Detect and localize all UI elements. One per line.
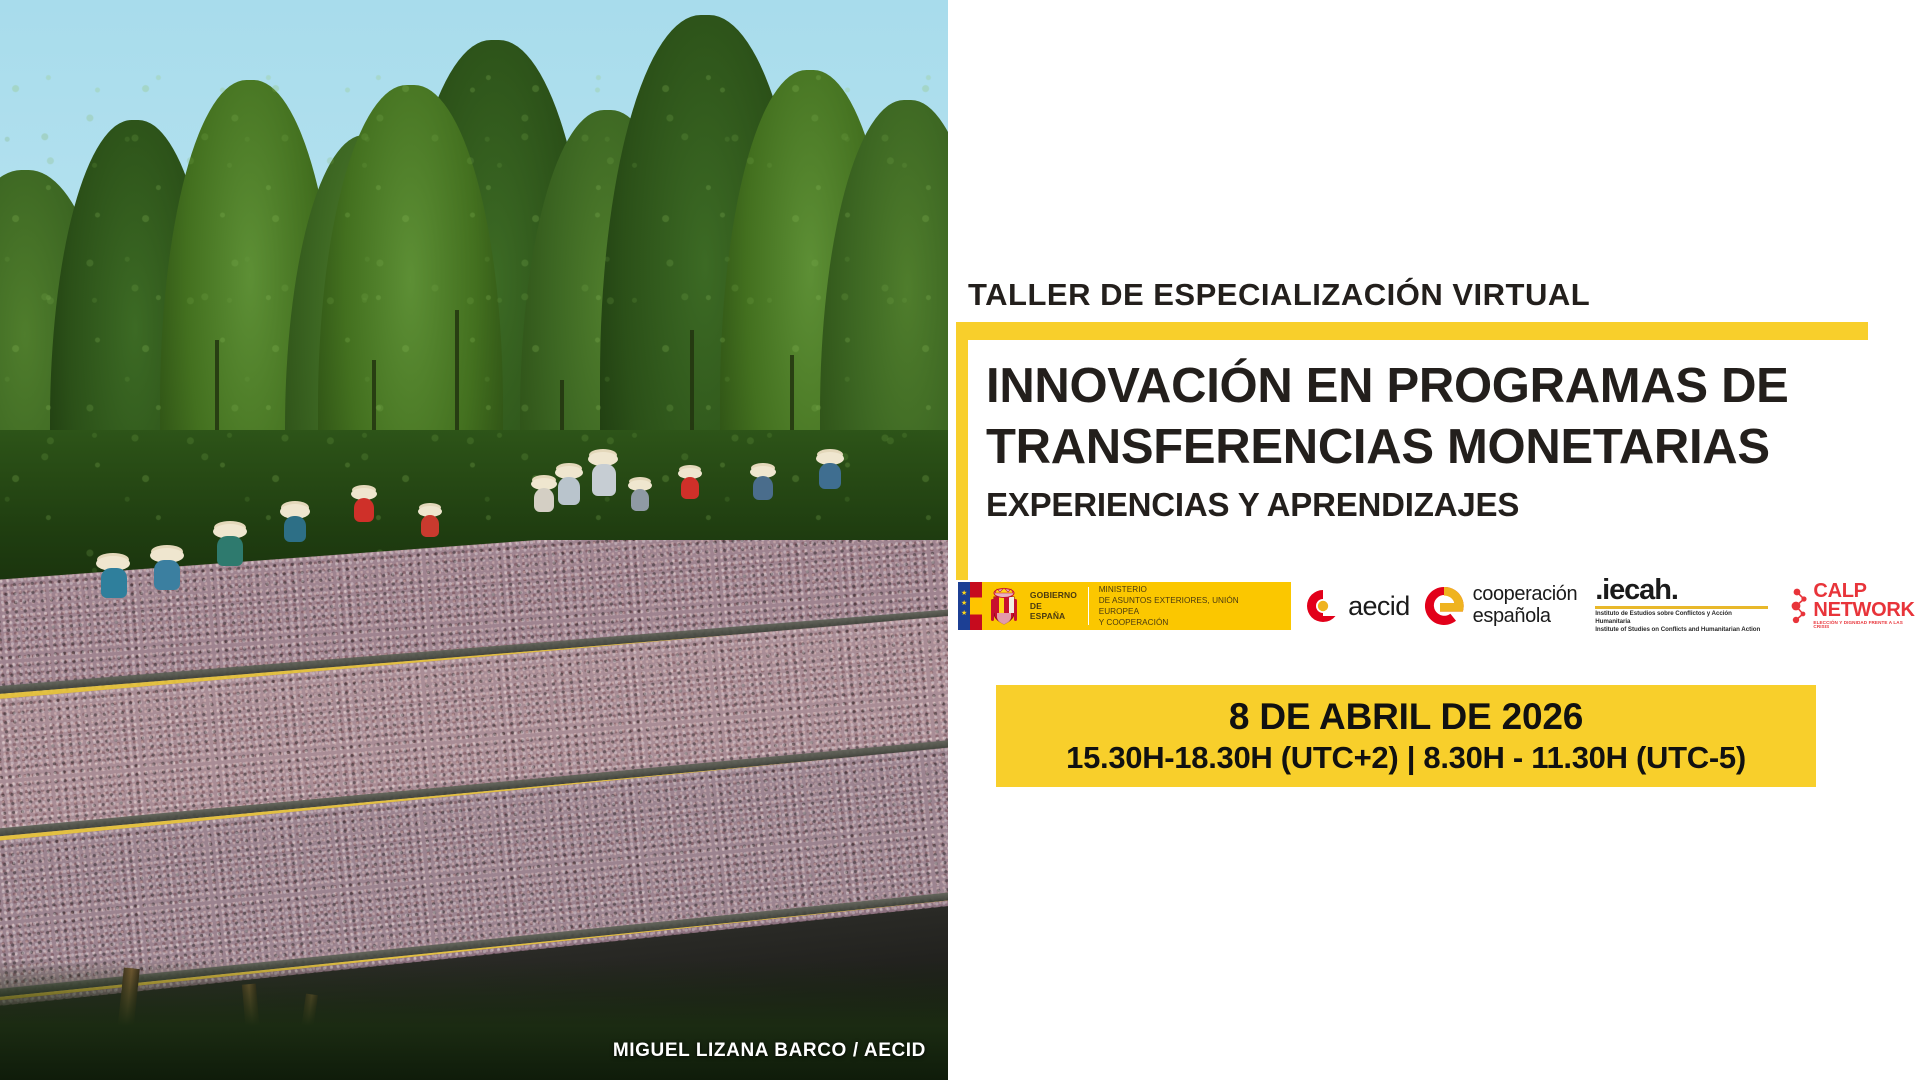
hero-photograph: MIGUEL LIZANA BARCO / AECID: [0, 0, 948, 1080]
iecah-subtitle-es: Instituto de Estudios sobre Conflictos y…: [1595, 610, 1768, 627]
ministerio-wordmark: MINISTERIO DE ASUNTOS EXTERIORES, UNIÓN …: [1089, 582, 1291, 630]
title-line-1: INNOVACIÓN EN PROGRAMAS DE: [986, 356, 1886, 417]
photo-credit: MIGUEL LIZANA BARCO / AECID: [613, 1040, 926, 1062]
event-poster: MIGUEL LIZANA BARCO / AECID TALLER DE ES…: [0, 0, 1920, 1080]
eu-spain-flag-icon: ★★★: [958, 582, 982, 630]
ministerio-line-1: MINISTERIO: [1099, 584, 1281, 595]
iecah-wordmark: .iecah.: [1595, 577, 1768, 605]
event-subtitle: EXPERIENCIAS Y APRENDIZAJES: [986, 486, 1886, 524]
aecid-logo: aecid: [1305, 588, 1410, 624]
content-panel: TALLER DE ESPECIALIZACIÓN VIRTUAL INNOVA…: [948, 0, 1920, 1080]
calp-tagline: ELECCIÓN Y DIGNIDAD FRENTE A LAS CRISIS: [1813, 621, 1920, 629]
spanish-coat-of-arms-icon: [982, 582, 1026, 630]
event-time: 15.30H-18.30H (UTC+2) | 8.30H - 11.30H (…: [1066, 740, 1746, 776]
drying-beds: [0, 540, 948, 1080]
cooperacion-line-1: cooperación: [1473, 583, 1578, 605]
cooperacion-line-2: española: [1473, 605, 1551, 627]
calp-wordmark: CALP NETWORK ELECCIÓN Y DIGNIDAD FRENTE …: [1813, 582, 1920, 629]
ministerio-line-3: Y COOPERACIÓN: [1099, 617, 1281, 628]
accent-stripe: [956, 340, 968, 580]
aecid-mark-icon: [1305, 588, 1341, 624]
gobierno-de-espana-logo: ★★★: [958, 582, 1291, 630]
cooperacion-e-mark-icon: [1422, 584, 1466, 628]
iecah-subtitle-en: Institute of Studies on Conflicts and Hu…: [1595, 626, 1768, 634]
gobierno-line-1: GOBIERNO: [1030, 590, 1080, 601]
calp-line-2: NETWORK: [1813, 601, 1920, 619]
ministerio-line-2: DE ASUNTOS EXTERIORES, UNIÓN EUROPEA: [1099, 595, 1281, 617]
calp-node-icon: [1790, 586, 1810, 626]
gobierno-line-2: DE ESPAÑA: [1030, 601, 1080, 622]
iecah-rule: [1595, 606, 1768, 609]
calp-network-logo: CALP NETWORK ELECCIÓN Y DIGNIDAD FRENTE …: [1790, 582, 1920, 629]
event-date: 8 DE ABRIL DE 2026: [1229, 696, 1583, 738]
logo-strip: ★★★: [958, 578, 1920, 634]
iecah-logo: .iecah. Instituto de Estudios sobre Conf…: [1595, 577, 1768, 635]
cooperacion-espanola-logo: cooperación española: [1422, 584, 1578, 628]
title-block: INNOVACIÓN EN PROGRAMAS DE TRANSFERENCIA…: [986, 356, 1886, 524]
cooperacion-wordmark: cooperación española: [1473, 584, 1578, 627]
date-time-banner: 8 DE ABRIL DE 2026 15.30H-18.30H (UTC+2)…: [996, 685, 1816, 787]
title-line-2: TRANSFERENCIAS MONETARIAS: [986, 417, 1886, 478]
gobierno-wordmark: GOBIERNO DE ESPAÑA: [1026, 582, 1088, 630]
accent-bar: [956, 322, 1868, 340]
aecid-wordmark: aecid: [1348, 591, 1410, 622]
event-kicker: TALLER DE ESPECIALIZACIÓN VIRTUAL: [968, 277, 1590, 313]
